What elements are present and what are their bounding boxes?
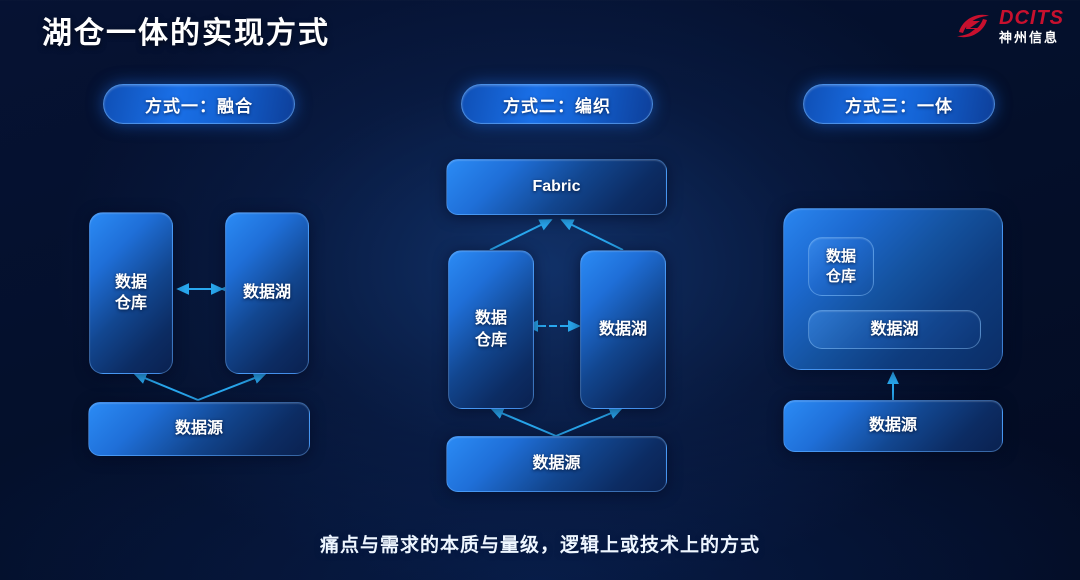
dcits-swirl-icon xyxy=(953,9,993,43)
logo-text-cn: 神州信息 xyxy=(999,31,1064,44)
arrow-c2-source-lake xyxy=(556,409,621,436)
node-c2-fabric[interactable]: Fabric xyxy=(446,159,667,215)
slide-canvas: 湖仓一体的实现方式 DCITS 神州信息 方式一：融合 方式二：编织 方式三：一… xyxy=(0,0,1080,580)
node-c3-source[interactable]: 数据源 xyxy=(783,400,1003,452)
section-pill-method-2[interactable]: 方式二：编织 xyxy=(461,84,653,124)
footer-caption: 痛点与需求的本质与量级，逻辑上或技术上的方式 xyxy=(0,530,1080,557)
node-c2-source[interactable]: 数据源 xyxy=(446,436,667,492)
arrow-c2-source-warehouse xyxy=(492,409,556,436)
logo-text-en: DCITS xyxy=(999,8,1064,28)
page-title: 湖仓一体的实现方式 xyxy=(42,8,330,52)
node-c3-warehouse[interactable]: 数据仓库 xyxy=(808,237,874,296)
node-c3-lake[interactable]: 数据湖 xyxy=(808,310,981,349)
brand-logo: DCITS 神州信息 xyxy=(953,8,1064,44)
node-c1-lake[interactable]: 数据湖 xyxy=(225,212,309,374)
node-c1-source[interactable]: 数据源 xyxy=(88,402,310,456)
node-c1-warehouse[interactable]: 数据仓库 xyxy=(89,212,173,374)
arrow-c2-warehouse-fabric xyxy=(490,220,551,250)
section-pill-method-1[interactable]: 方式一：融合 xyxy=(103,84,295,124)
arrow-c1-source-lake xyxy=(198,374,265,400)
node-c2-lake[interactable]: 数据湖 xyxy=(580,250,666,409)
section-pill-method-3[interactable]: 方式三：一体 xyxy=(803,84,995,124)
node-c2-warehouse[interactable]: 数据仓库 xyxy=(448,250,534,409)
arrow-c2-lake-fabric xyxy=(562,220,623,250)
arrow-c1-source-warehouse xyxy=(135,374,198,400)
